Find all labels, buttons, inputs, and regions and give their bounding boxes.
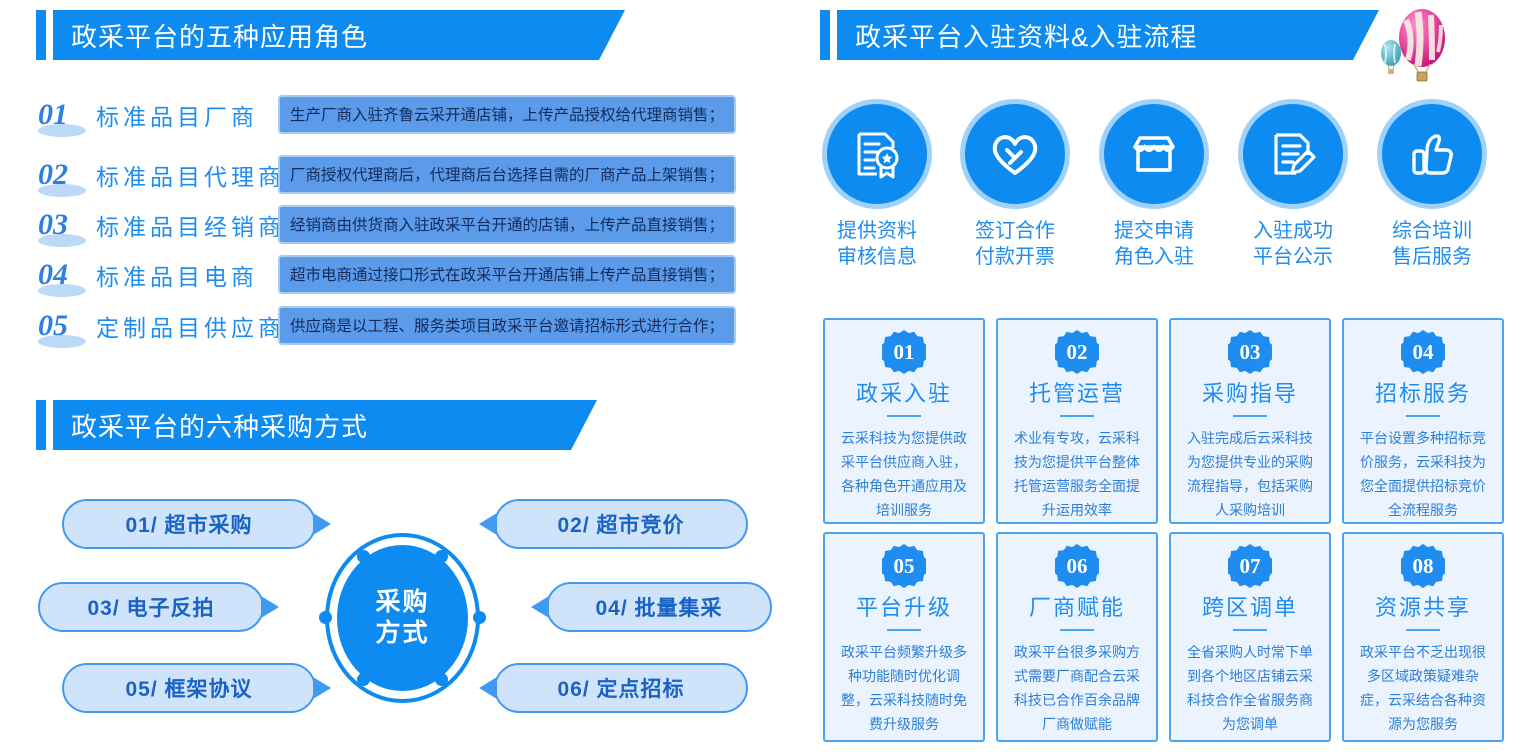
role-row: 02 标准品目代理商 厂商授权代理商后，代理商后台选择自需的厂商产品上架销售； (36, 155, 736, 194)
header-plate: 政采平台入驻资料&入驻流程 (837, 10, 1353, 60)
info-card[interactable]: 06 厂商赋能 政采平台很多采购方式需要厂商配合云采科技已合作百余品牌厂商做赋能 (996, 532, 1158, 742)
card-title: 政采入驻 (825, 376, 983, 408)
card-divider (1233, 629, 1267, 631)
header-accent-bar (820, 10, 830, 60)
handshake-heart-icon (987, 126, 1043, 182)
card-number: 02 (1055, 330, 1099, 374)
flow-label-line1: 综合培训 (1378, 218, 1486, 244)
card-body: 政采平台不乏出现很多区域政策疑难杂症，云采结合各种资源为您服务 (1344, 640, 1502, 736)
wheel-label-line2: 方式 (375, 618, 429, 649)
method-pill[interactable]: 04/ 批量集采 (546, 582, 772, 632)
document-edit-icon (1266, 127, 1320, 181)
card-title: 资源共享 (1344, 590, 1502, 622)
info-card[interactable]: 01 政采入驻 云采科技为您提供政采平台供应商入驻，各种角色开通应用及培训服务 (823, 318, 985, 524)
method-pill-label: 03/ 电子反拍 (87, 592, 214, 622)
card-badge: 08 (1401, 544, 1445, 588)
role-description: 供应商是以工程、服务类项目政采平台邀请招标形式进行合作； (278, 306, 736, 345)
method-pill[interactable]: 05/ 框架协议 (62, 663, 316, 713)
card-divider (1406, 415, 1440, 417)
role-number-text: 04 (38, 258, 68, 291)
info-card[interactable]: 05 平台升级 政采平台频繁升级多种功能随时优化调整，云采科技随时免费升级服务 (823, 532, 985, 742)
role-row: 03 标准品目经销商 经销商由供货商入驻政采平台开通的店铺，上传产品直接销售； (36, 205, 736, 244)
role-number: 03 (36, 210, 96, 240)
role-description: 生产厂商入驻齐鲁云采开通店铺，上传产品授权给代理商销售； (278, 95, 736, 134)
header-plate: 政采平台的六种采购方式 (53, 400, 571, 450)
info-card[interactable]: 04 招标服务 平台设置多种招标竞价服务，云采科技为您全面提供招标竞价全流程服务 (1342, 318, 1504, 524)
header-plate: 政采平台的五种应用角色 (53, 10, 599, 60)
flow-step-circle (1243, 104, 1343, 204)
pill-tail (531, 596, 549, 618)
role-description: 厂商授权代理商后，代理商后台选择自需的厂商产品上架销售； (278, 155, 736, 194)
method-pill-label: 06/ 定点招标 (557, 673, 684, 703)
card-badge: 02 (1055, 330, 1099, 374)
method-pill[interactable]: 03/ 电子反拍 (38, 582, 264, 632)
small-hot-air-balloon-icon (1378, 40, 1404, 76)
roles-section-header: 政采平台的五种应用角色 (36, 10, 599, 60)
role-name: 标准品目厂商 (96, 98, 278, 132)
card-divider (1406, 629, 1440, 631)
header-accent-bar (36, 400, 46, 450)
onboarding-section-header: 政采平台入驻资料&入驻流程 (820, 10, 1353, 60)
roles-title: 政采平台的五种应用角色 (71, 17, 368, 54)
flow-step-label: 签订合作 付款开票 (961, 218, 1069, 270)
card-title: 厂商赋能 (998, 590, 1156, 622)
flow-step[interactable]: 入驻成功 平台公示 (1239, 104, 1347, 270)
card-body: 云采科技为您提供政采平台供应商入驻，各种角色开通应用及培训服务 (825, 426, 983, 522)
card-body: 术业有专攻，云采科技为您提供平台整体托管运营服务全面提升运用效率 (998, 426, 1156, 522)
wheel-dot (473, 611, 486, 624)
card-divider (1060, 415, 1094, 417)
card-badge: 04 (1401, 330, 1445, 374)
method-pill-label: 04/ 批量集采 (595, 592, 722, 622)
card-body: 政采平台很多采购方式需要厂商配合云采科技已合作百余品牌厂商做赋能 (998, 640, 1156, 736)
role-number: 01 (36, 100, 96, 130)
card-badge: 05 (882, 544, 926, 588)
wheel-dot (435, 673, 448, 686)
flow-step-label: 综合培训 售后服务 (1378, 218, 1486, 270)
card-badge: 01 (882, 330, 926, 374)
onboarding-title: 政采平台入驻资料&入驻流程 (855, 17, 1197, 54)
card-number: 07 (1228, 544, 1272, 588)
card-number: 01 (882, 330, 926, 374)
card-number: 05 (882, 544, 926, 588)
flow-label-line2: 平台公示 (1239, 244, 1347, 270)
role-name: 标准品目电商 (96, 258, 278, 292)
infographic-canvas: 政采平台的五种应用角色 01 标准品目厂商 生产厂商入驻齐鲁云采开通店铺，上传产… (0, 0, 1529, 752)
flow-step-circle (965, 104, 1065, 204)
role-number-text: 02 (38, 158, 68, 191)
pill-tail (313, 513, 331, 535)
card-body: 全省采购人时常下单到各个地区店铺云采科技合作全省服务商为您调单 (1171, 640, 1329, 736)
role-number: 04 (36, 260, 96, 290)
card-divider (1233, 415, 1267, 417)
card-title: 跨区调单 (1171, 590, 1329, 622)
wheel-label-line1: 采购 (375, 587, 429, 618)
certificate-icon (850, 127, 904, 181)
wheel-dot (357, 550, 370, 563)
methods-title: 政采平台的六种采购方式 (71, 407, 368, 444)
method-pill-label: 01/ 超市采购 (125, 509, 252, 539)
info-card[interactable]: 07 跨区调单 全省采购人时常下单到各个地区店铺云采科技合作全省服务商为您调单 (1169, 532, 1331, 742)
flow-step-circle (827, 104, 927, 204)
role-number-text: 01 (38, 98, 68, 131)
method-pill[interactable]: 02/ 超市竞价 (494, 499, 748, 549)
card-badge: 07 (1228, 544, 1272, 588)
flow-step-label: 提交申请 角色入驻 (1100, 218, 1208, 270)
role-description: 经销商由供货商入驻政采平台开通的店铺，上传产品直接销售； (278, 205, 736, 244)
flow-step-label: 提供资料 审核信息 (823, 218, 931, 270)
card-title: 平台升级 (825, 590, 983, 622)
card-number: 06 (1055, 544, 1099, 588)
role-number: 05 (36, 311, 96, 341)
wheel-dot (435, 550, 448, 563)
card-divider (887, 415, 921, 417)
flow-step[interactable]: 提交申请 角色入驻 (1100, 104, 1208, 270)
info-card[interactable]: 03 采购指导 入驻完成后云采科技为您提供专业的采购流程指导，包括采购人采购培训 (1169, 318, 1331, 524)
card-divider (1060, 629, 1094, 631)
methods-section-header: 政采平台的六种采购方式 (36, 400, 571, 450)
flow-step[interactable]: 综合培训 售后服务 (1378, 104, 1486, 270)
method-pill-label: 02/ 超市竞价 (557, 509, 684, 539)
card-divider (887, 629, 921, 631)
flow-label-line1: 签订合作 (961, 218, 1069, 244)
method-pill[interactable]: 01/ 超市采购 (62, 499, 316, 549)
role-name: 标准品目代理商 (96, 158, 278, 192)
info-card[interactable]: 02 托管运营 术业有专攻，云采科技为您提供平台整体托管运营服务全面提升运用效率 (996, 318, 1158, 524)
role-row: 04 标准品目电商 超市电商通过接口形式在政采平台开通店铺上传产品直接销售； (36, 255, 736, 294)
card-number: 03 (1228, 330, 1272, 374)
role-row: 01 标准品目厂商 生产厂商入驻齐鲁云采开通店铺，上传产品授权给代理商销售； (36, 95, 736, 134)
flow-step-circle (1104, 104, 1204, 204)
card-title: 采购指导 (1171, 376, 1329, 408)
role-name: 定制品目供应商 (96, 309, 278, 343)
card-number: 04 (1401, 330, 1445, 374)
card-body: 平台设置多种招标竞价服务，云采科技为您全面提供招标竞价全流程服务 (1344, 426, 1502, 522)
pill-tail (261, 596, 279, 618)
flow-step[interactable]: 签订合作 付款开票 (961, 104, 1069, 270)
thumbs-up-icon (1405, 127, 1459, 181)
flow-step-label: 入驻成功 平台公示 (1239, 218, 1347, 270)
method-pill[interactable]: 06/ 定点招标 (494, 663, 748, 713)
flow-label-line2: 角色入驻 (1100, 244, 1208, 270)
role-name: 标准品目经销商 (96, 208, 278, 242)
role-number-text: 03 (38, 208, 68, 241)
card-body: 入驻完成后云采科技为您提供专业的采购流程指导，包括采购人采购培训 (1171, 426, 1329, 522)
method-pill-label: 05/ 框架协议 (125, 673, 252, 703)
methods-center-wheel: 采购 方式 (325, 533, 480, 703)
role-row: 05 定制品目供应商 供应商是以工程、服务类项目政采平台邀请招标形式进行合作； (36, 306, 736, 345)
role-description: 超市电商通过接口形式在政采平台开通店铺上传产品直接销售； (278, 255, 736, 294)
card-body: 政采平台频繁升级多种功能随时优化调整，云采科技随时免费升级服务 (825, 640, 983, 736)
flow-label-line1: 入驻成功 (1239, 218, 1347, 244)
flow-label-line1: 提供资料 (823, 218, 931, 244)
card-title: 托管运营 (998, 376, 1156, 408)
card-title: 招标服务 (1344, 376, 1502, 408)
wheel-dot (357, 673, 370, 686)
card-badge: 03 (1228, 330, 1272, 374)
flow-step-circle (1382, 104, 1482, 204)
card-number: 08 (1401, 544, 1445, 588)
info-card[interactable]: 08 资源共享 政采平台不乏出现很多区域政策疑难杂症，云采结合各种资源为您服务 (1342, 532, 1504, 742)
flow-label-line2: 审核信息 (823, 244, 931, 270)
header-accent-bar (36, 10, 46, 60)
flow-label-line1: 提交申请 (1100, 218, 1208, 244)
flow-step[interactable]: 提供资料 审核信息 (823, 104, 931, 270)
role-number: 02 (36, 160, 96, 190)
role-number-text: 05 (38, 309, 68, 342)
storefront-icon (1126, 126, 1182, 182)
pill-tail (479, 513, 497, 535)
wheel-dot (319, 611, 332, 624)
flow-label-line2: 付款开票 (961, 244, 1069, 270)
pill-tail (479, 677, 497, 699)
flow-label-line2: 售后服务 (1378, 244, 1486, 270)
card-badge: 06 (1055, 544, 1099, 588)
wheel-core: 采购 方式 (337, 545, 468, 691)
